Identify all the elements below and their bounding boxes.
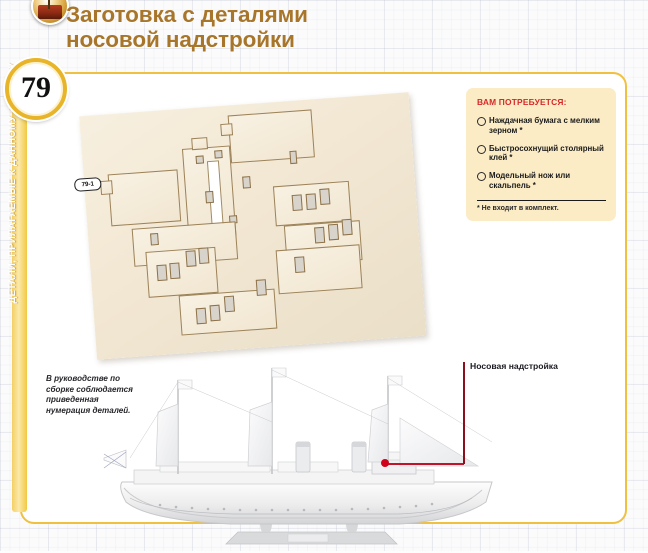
materials-footnote: * Не входит в комплект. xyxy=(477,205,606,212)
page-background: Заготовка с деталями носовой надстройки … xyxy=(0,0,648,551)
page-title-line-1: Заготовка с деталями xyxy=(66,2,486,27)
materials-list-item[interactable]: Модельный нож или скальпель * xyxy=(477,171,606,191)
sheet-window xyxy=(156,264,167,281)
materials-divider xyxy=(477,200,606,201)
sheet-window xyxy=(328,224,339,241)
laser-cut-sheet-illustration: 79-1 xyxy=(79,92,426,365)
sheet-part-notch xyxy=(220,123,233,136)
sheet-window xyxy=(214,150,223,159)
sheet-window xyxy=(256,279,267,296)
logo-mast-shape xyxy=(48,0,50,9)
sheet-window xyxy=(306,193,317,210)
sheet-part xyxy=(228,109,315,163)
materials-item-label: Наждачная бумага с мелким зерном * xyxy=(489,116,600,135)
sheet-window xyxy=(289,151,297,164)
ship-medallion-icon xyxy=(31,0,69,25)
circle-bullet-icon[interactable] xyxy=(477,117,486,126)
part-number-tag: 79-1 xyxy=(74,177,102,192)
logo-hull-shape xyxy=(38,5,62,19)
materials-panel: ВАМ ПОТРЕБУЕТСЯ: Наждачная бумага с мелк… xyxy=(466,88,616,221)
callout-dot xyxy=(381,459,389,467)
callout-line-vertical xyxy=(463,362,465,464)
page-number-value: 79 xyxy=(21,73,51,105)
sheet-window xyxy=(196,308,207,325)
materials-item-label: Модельный нож или скальпель * xyxy=(489,171,570,190)
sheet-window xyxy=(292,194,303,211)
sheet-window xyxy=(185,250,196,267)
callout-label: Носовая надстройка xyxy=(470,361,558,371)
sheet-window xyxy=(342,219,353,236)
sheet-window xyxy=(198,247,209,264)
materials-heading: ВАМ ПОТРЕБУЕТСЯ: xyxy=(477,97,606,107)
sheet-window xyxy=(314,227,325,244)
callout-line-horizontal xyxy=(385,463,464,465)
ship-svg xyxy=(100,362,500,548)
sheet-window xyxy=(242,176,251,189)
sidebar-vertical-label: ДЕТАЛИ, ПРИЛАГАЕМЫЕ К ДАННОМУ ВЫПУСКУ xyxy=(7,0,17,383)
page-title-line-2: носовой надстройки xyxy=(66,27,486,52)
materials-list-item[interactable]: Наждачная бумага с мелким зерном * xyxy=(477,116,606,136)
materials-list-item[interactable]: Быстросохнущий столярный клей * xyxy=(477,144,606,164)
sheet-window xyxy=(224,296,235,313)
circle-bullet-icon[interactable] xyxy=(477,172,486,181)
sheet-window xyxy=(150,233,159,246)
plywood-sheet xyxy=(79,92,426,360)
sheet-window xyxy=(205,191,214,204)
sheet-window xyxy=(196,155,205,164)
ship-model-illustration xyxy=(100,362,500,548)
page-number-badge: 79 xyxy=(5,58,67,120)
circle-bullet-icon[interactable] xyxy=(477,145,486,154)
sheet-part xyxy=(276,244,363,294)
sheet-window xyxy=(294,256,305,273)
sheet-part-notch xyxy=(191,137,208,150)
sheet-part-notch xyxy=(100,180,113,195)
sheet-window xyxy=(319,188,330,205)
page-title: Заготовка с деталями носовой надстройки xyxy=(66,2,486,52)
sheet-window xyxy=(209,305,220,322)
sheet-part xyxy=(108,169,182,226)
sheet-window xyxy=(169,262,180,279)
materials-item-label: Быстросохнущий столярный клей * xyxy=(489,144,604,163)
